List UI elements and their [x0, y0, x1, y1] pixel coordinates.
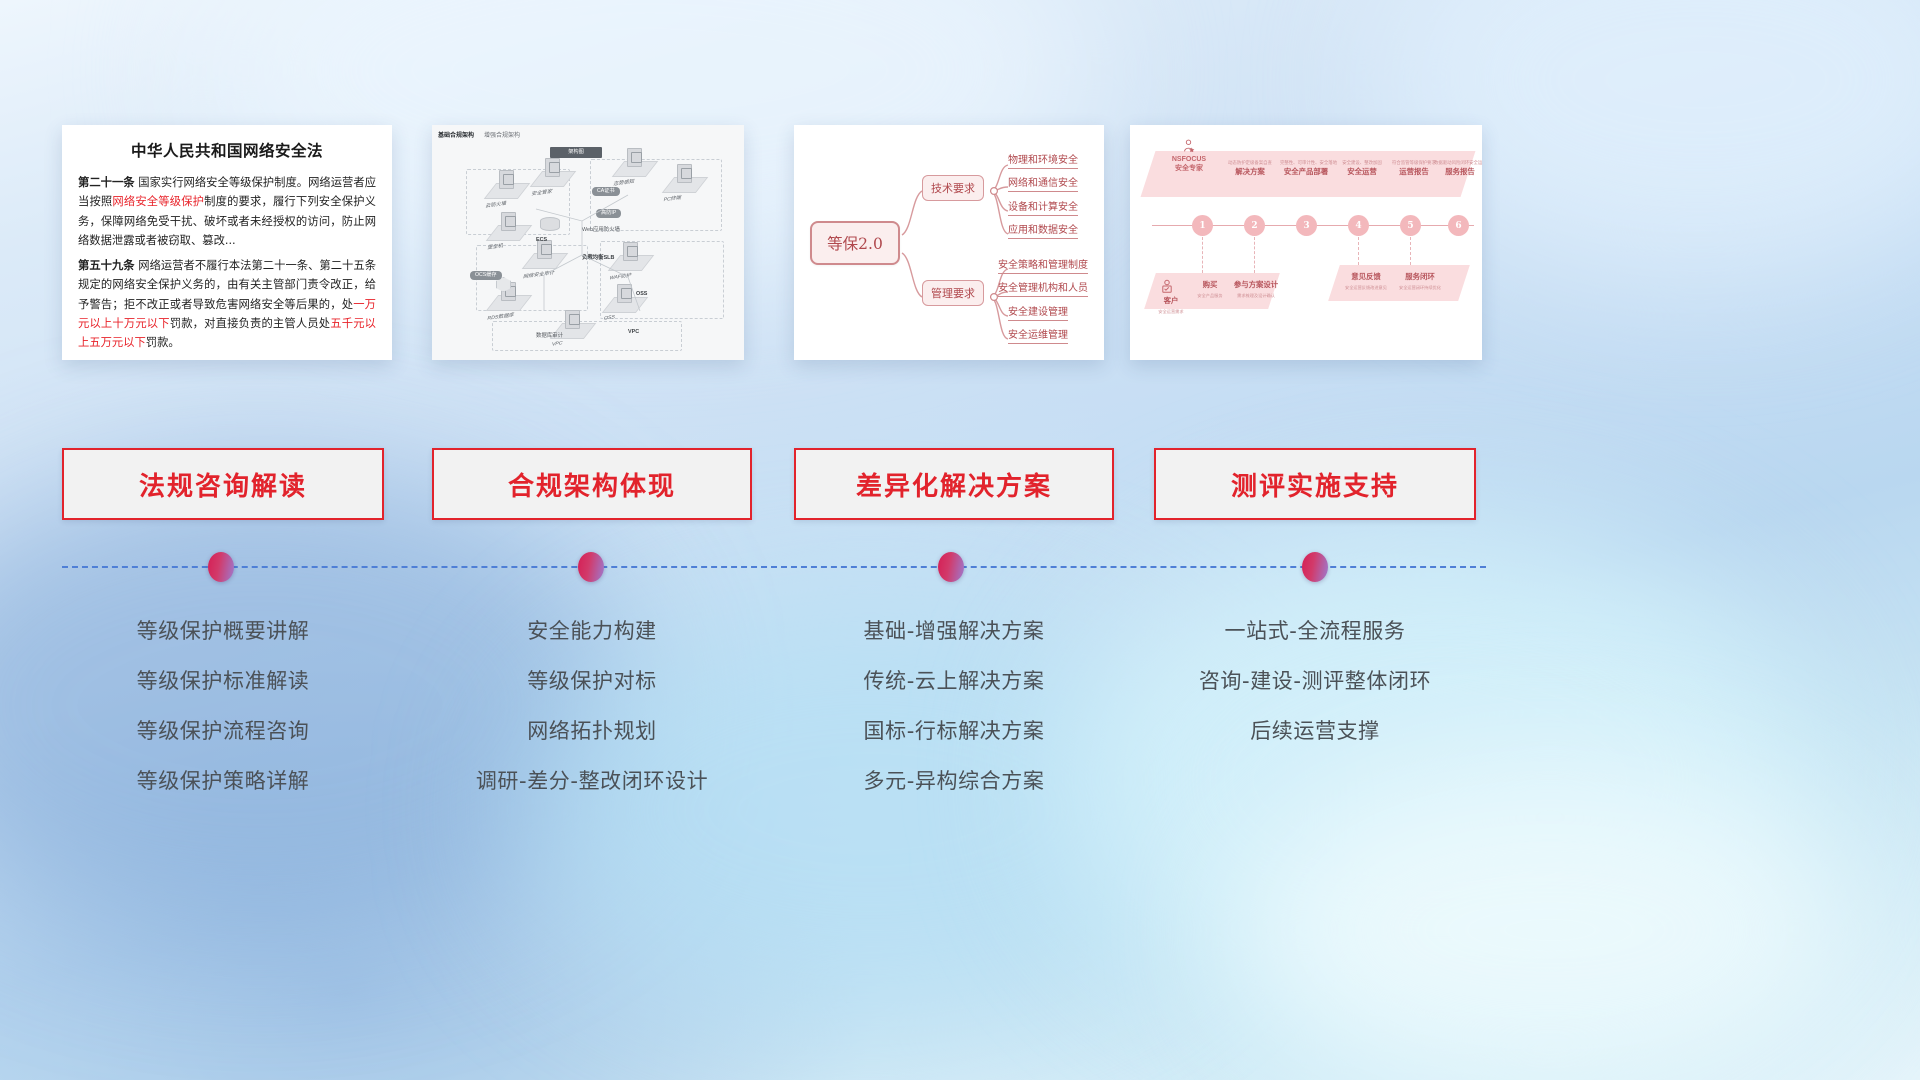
mindmap-leaf: 安全建设管理 — [1008, 303, 1068, 321]
bullet-column-assessment-support: 一站式-全流程服务 咨询-建设-测评整体闭环 后续运营支撑 — [1154, 606, 1476, 756]
diagram-node: OSS — [608, 297, 642, 313]
bullet-item: 一站式-全流程服务 — [1154, 606, 1476, 656]
architecture-label: ECS — [536, 237, 547, 243]
architecture-label: 数据库审计 — [536, 331, 563, 339]
bullet-column-regulation-consulting: 等级保护概要讲解 等级保护标准解读 等级保护流程咨询 等级保护策略详解 — [62, 606, 384, 806]
bullet-item: 等级保护概要讲解 — [62, 606, 384, 656]
headline-box-compliance-architecture[interactable]: 合规架构体现 — [432, 448, 752, 520]
nsfocus-brand-name: NSFOCUS — [1160, 155, 1218, 164]
nsfocus-dropline — [1410, 237, 1411, 265]
tab-basic-architecture: 基础合规架构 — [438, 130, 474, 139]
mindmap-branch-technical: 技术要求 — [922, 175, 984, 201]
pill-label: OCS缓存 — [470, 271, 502, 280]
nsfocus-diagram: NSFOCUS 安全专家 动态防护定级备案自查 解决方案 完整性、可审计性、安全… — [1138, 133, 1474, 352]
mindmap-leaf: 物理和环境安全 — [1008, 151, 1078, 169]
bottom-item-sub: 需求梳理及设计确认 — [1230, 293, 1282, 299]
bottom-item-title: 客户 — [1152, 295, 1190, 306]
card-compliance-architecture: 基础合规架构 增强合规架构 架构图 云防火墙 安全管家 态势感知 PC终端 堡垒… — [432, 125, 744, 360]
headline-box-differentiated-solution[interactable]: 差异化解决方案 — [794, 448, 1114, 520]
timeline-dot[interactable] — [578, 552, 604, 582]
headline-label: 测评实施支持 — [1231, 466, 1399, 503]
mindmap-root: 等保2.0 — [810, 221, 900, 265]
bullet-item: 国标-行标解决方案 — [794, 706, 1114, 756]
nsfocus-top-item: 安全建设、整改加固 安全运营 — [1336, 157, 1388, 177]
headline-label: 差异化解决方案 — [856, 466, 1052, 503]
diagram-node: 安全管家 — [536, 171, 570, 187]
top-item-title: 服务报告 — [1434, 166, 1482, 177]
bullet-item: 传统-云上解决方案 — [794, 656, 1114, 706]
nsfocus-dropline — [1202, 237, 1203, 273]
headline-box-regulation-consulting[interactable]: 法规咨询解读 — [62, 448, 384, 520]
nsfocus-dropline — [1254, 237, 1255, 273]
nsfocus-bottom-item: 服务闭环 安全运营闭环持续优化 — [1396, 271, 1444, 291]
mindmap-leaf: 安全管理机构和人员 — [998, 279, 1088, 297]
top-item-title: 安全产品部署 — [1280, 166, 1332, 177]
bottom-item-title: 购买 — [1190, 279, 1230, 290]
headline-row: 法规咨询解读 合规架构体现 差异化解决方案 测评实施支持 — [0, 448, 1920, 520]
mindmap-leaf: 安全运维管理 — [1008, 326, 1068, 344]
mindmap-branch-management: 管理要求 — [922, 280, 984, 306]
article-21-label: 第二十一条 — [78, 176, 135, 189]
top-item-title: 运营报告 — [1388, 166, 1440, 177]
pill-label: CA证书 — [592, 187, 620, 196]
background-blob — [1240, 760, 1860, 1080]
architecture-banner-label: 架构图 — [550, 147, 602, 158]
timeline-dot[interactable] — [208, 552, 234, 582]
article-59-label: 第五十九条 — [78, 259, 135, 272]
nsfocus-bottom-item: 购买 安全产品服务 — [1190, 279, 1230, 299]
architecture-diagram: 基础合规架构 增强合规架构 架构图 云防火墙 安全管家 态势感知 PC终端 堡垒… — [432, 125, 744, 360]
architecture-tabs: 基础合规架构 增强合规架构 — [438, 130, 520, 139]
bottom-item-sub: 安全运营闭环持续优化 — [1396, 285, 1444, 291]
nsfocus-top-item: 符合监管等级保护要求 运营报告 — [1388, 157, 1440, 177]
timeline-dot[interactable] — [938, 552, 964, 582]
bottom-item-sub: 安全运营需求 — [1152, 309, 1190, 315]
architecture-label: 负载均衡SLB — [582, 253, 614, 261]
bullet-item: 多元-异构综合方案 — [794, 756, 1114, 806]
bullet-column-compliance-architecture: 安全能力构建 等级保护对标 网络拓扑规划 调研-差分-整改闭环设计 — [432, 606, 752, 806]
card-mindmap-dengbao: 等保2.0 技术要求 管理要求 物理和环境安全 网络和通信安全 设备和计算安全 … — [794, 125, 1104, 360]
diagram-node: WAF防护 — [614, 255, 648, 271]
expert-person-icon — [1182, 139, 1195, 152]
law-document: 中华人民共和国网络安全法 第二十一条 国家实行网络安全等级保护制度。网络运营者应… — [62, 125, 392, 360]
diagram-node: 态势感知 — [618, 161, 652, 177]
image-card-row: 中华人民共和国网络安全法 第二十一条 国家实行网络安全等级保护制度。网络运营者应… — [0, 125, 1920, 360]
nsfocus-step: 4 — [1348, 215, 1369, 236]
nsfocus-dropline — [1358, 237, 1359, 265]
law-article-59: 第五十九条 网络运营者不履行本法第二十一条、第二十五条规定的网络安全保护义务的，… — [78, 256, 376, 353]
architecture-label: OSS — [636, 291, 647, 297]
bottom-item-sub: 安全运营反馈改进意见 — [1342, 285, 1390, 291]
nsfocus-top-item: 完整性、可审计性、安全落地 安全产品部署 — [1280, 157, 1332, 177]
headline-box-assessment-support[interactable]: 测评实施支持 — [1154, 448, 1476, 520]
nsfocus-step: 5 — [1400, 215, 1421, 236]
customer-person-icon — [1160, 279, 1174, 293]
bullet-item: 等级保护对标 — [432, 656, 752, 706]
nsfocus-top-item: 动态防护定级备案自查 解决方案 — [1224, 157, 1276, 177]
bullet-item: 调研-差分-整改闭环设计 — [432, 756, 752, 806]
timeline — [62, 566, 1486, 568]
card-cybersecurity-law: 中华人民共和国网络安全法 第二十一条 国家实行网络安全等级保护制度。网络运营者应… — [62, 125, 392, 360]
bullet-item: 后续运营支撑 — [1154, 706, 1476, 756]
diagram-node: PC终端 — [668, 177, 702, 193]
diagram-node: 网络安全审计 — [528, 253, 562, 269]
bullet-column-differentiated-solution: 基础-增强解决方案 传统-云上解决方案 国标-行标解决方案 多元-异构综合方案 — [794, 606, 1114, 806]
law-article-21: 第二十一条 国家实行网络安全等级保护制度。网络运营者应当按照网络安全等级保护制度… — [78, 173, 376, 251]
headline-label: 合规架构体现 — [508, 466, 676, 503]
card-nsfocus-timeline: NSFOCUS 安全专家 动态防护定级备案自查 解决方案 完整性、可审计性、安全… — [1130, 125, 1482, 360]
cylinder-node — [540, 217, 560, 231]
bullet-item: 等级保护流程咨询 — [62, 706, 384, 756]
nsfocus-bottom-item: 参与方案设计 需求梳理及设计确认 — [1230, 279, 1282, 299]
bullet-item: 等级保护策略详解 — [62, 756, 384, 806]
bullet-item: 网络拓扑规划 — [432, 706, 752, 756]
background-blob — [1060, 520, 1820, 1040]
nsfocus-bottom-item: 意见反馈 安全运营反馈改进意见 — [1342, 271, 1390, 291]
mindmap: 等保2.0 技术要求 管理要求 物理和环境安全 网络和通信安全 设备和计算安全 … — [794, 125, 1104, 360]
nsfocus-top-item: 数据驱动风险闭环安全运营体系 服务报告 — [1434, 157, 1482, 177]
top-item-title: 安全运营 — [1336, 166, 1388, 177]
headline-label: 法规咨询解读 — [139, 466, 307, 503]
timeline-dashed-line — [62, 566, 1486, 568]
tab-enhanced-architecture: 增强合规架构 — [484, 130, 520, 139]
bullet-item: 咨询-建设-测评整体闭环 — [1154, 656, 1476, 706]
diagram-node: 堡垒机 — [492, 225, 526, 241]
diagram-node: RDS数据库 — [492, 295, 526, 311]
nsfocus-step: 1 — [1192, 215, 1213, 236]
article-59-text-3: 罚款。 — [146, 336, 180, 349]
architecture-label: VPC — [628, 329, 639, 335]
mindmap-leaf: 网络和通信安全 — [1008, 174, 1078, 192]
top-item-title: 解决方案 — [1224, 166, 1276, 177]
architecture-label: Web应用防火墙 — [582, 225, 620, 233]
bottom-item-title: 意见反馈 — [1342, 271, 1390, 282]
mindmap-leaf: 安全策略和管理制度 — [998, 256, 1088, 274]
nsfocus-brand-sub: 安全专家 — [1160, 164, 1218, 173]
mindmap-leaf: 应用和数据安全 — [1008, 221, 1078, 239]
bottom-item-sub: 安全产品服务 — [1190, 293, 1230, 299]
bullet-item: 基础-增强解决方案 — [794, 606, 1114, 656]
nsfocus-bottom-item: 客户 安全运营需求 — [1152, 295, 1190, 315]
law-title: 中华人民共和国网络安全法 — [78, 139, 376, 161]
bullet-item: 安全能力构建 — [432, 606, 752, 656]
bullet-item: 等级保护标准解读 — [62, 656, 384, 706]
bottom-item-title: 参与方案设计 — [1230, 279, 1282, 290]
nsfocus-step: 6 — [1448, 215, 1469, 236]
diagram-node: 云防火墙 — [490, 183, 524, 199]
pill-label: 高防IP — [596, 209, 621, 218]
slide-canvas: 中华人民共和国网络安全法 第二十一条 国家实行网络安全等级保护制度。网络运营者应… — [0, 0, 1920, 1080]
mindmap-leaf: 设备和计算安全 — [1008, 198, 1078, 216]
bottom-item-title: 服务闭环 — [1396, 271, 1444, 282]
nsfocus-step: 3 — [1296, 215, 1317, 236]
nsfocus-brand: NSFOCUS 安全专家 — [1160, 155, 1218, 174]
article-21-highlight: 网络安全等级保护 — [112, 195, 204, 208]
article-59-text-2: 罚款，对直接负责的主管人员处 — [170, 317, 331, 330]
architecture-banner: 架构图 — [550, 147, 602, 158]
nsfocus-step: 2 — [1244, 215, 1265, 236]
timeline-dot[interactable] — [1302, 552, 1328, 582]
